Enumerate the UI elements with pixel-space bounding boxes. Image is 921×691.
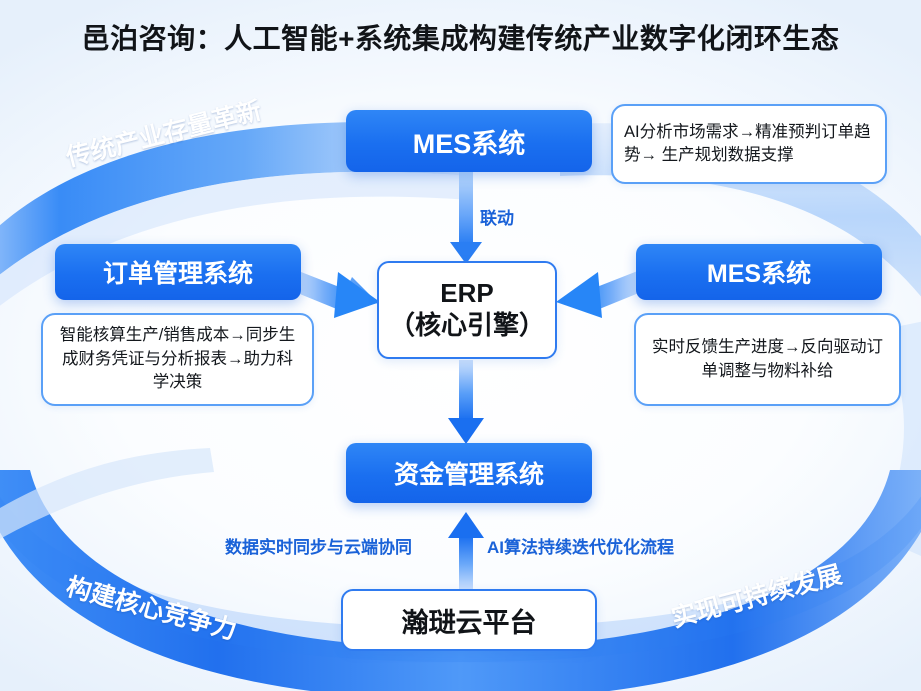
note-top-right: AI分析市场需求→精准预判订单趋势→ 生产规划数据支撑 [611,104,887,184]
node-erp-line1: ERP [440,278,493,310]
note-right: 实时反馈生产进度→反向驱动订单调整与物料补给 [634,313,901,406]
node-fund-management[interactable]: 资金管理系统 [346,443,592,503]
arrow-cloud-to-fund [448,512,484,592]
note-left: 智能核算生产/销售成本→同步生成财务凭证与分析报表→助力科学决策 [41,313,314,406]
arrow-order-to-erp [290,270,380,318]
arrow-erp-to-fund [448,360,484,444]
node-mes-right[interactable]: MES系统 [636,244,882,300]
label-cloud-ai: AI算法持续迭代优化流程 [487,533,674,558]
diagram-canvas: 邑泊咨询：人工智能+系统集成构建传统产业数字化闭环生态 传统产业存量革新 构建核… [0,0,921,691]
label-cloud-sync: 数据实时同步与云端协同 [225,533,412,558]
node-mes-top[interactable]: MES系统 [346,110,592,172]
page-title: 邑泊咨询：人工智能+系统集成构建传统产业数字化闭环生态 [0,17,921,57]
arrow-mesright-to-erp [556,270,646,318]
node-cloud-platform[interactable]: 瀚琎云平台 [341,589,597,651]
node-order-management[interactable]: 订单管理系统 [55,244,301,300]
node-erp-core[interactable]: ERP （核心引擎） [377,261,557,359]
label-mes-to-erp: 联动 [480,204,514,229]
node-erp-line2: （核心引擎） [389,310,545,342]
